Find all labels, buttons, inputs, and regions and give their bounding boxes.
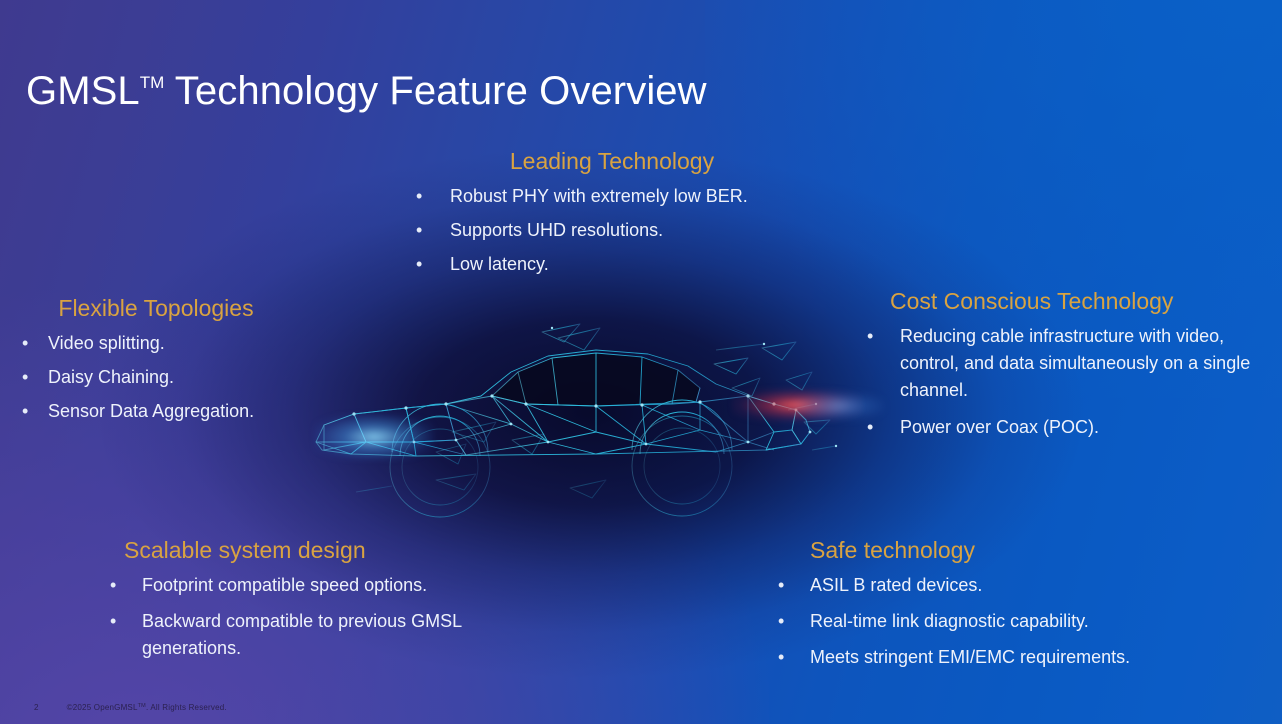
bullet-dot-icon: • xyxy=(778,572,784,599)
feature-bullet-list-safe-technology: •ASIL B rated devices. •Real-time link d… xyxy=(770,572,1210,671)
bullet-text: Power over Coax (POC). xyxy=(900,414,1274,441)
feature-heading-safe-technology: Safe technology xyxy=(770,537,1210,564)
feature-bullet-list-leading-technology: •Robust PHY with extremely low BER. •Sup… xyxy=(402,183,822,278)
list-item: •Video splitting. xyxy=(10,330,340,357)
copyright-notice: ©2025 OpenGMSLTM. All Rights Reserved. xyxy=(67,703,227,712)
list-item: •Low latency. xyxy=(402,251,822,278)
wireframe-car-illustration xyxy=(296,292,866,532)
title-remainder: Technology Feature Overview xyxy=(164,69,706,113)
trademark-symbol: TM xyxy=(140,73,165,92)
list-item: •Robust PHY with extremely low BER. xyxy=(402,183,822,210)
list-item: •Sensor Data Aggregation. xyxy=(10,398,340,425)
bullet-text: Low latency. xyxy=(450,251,822,278)
feature-block-leading-technology: Leading Technology •Robust PHY with extr… xyxy=(402,148,822,285)
copyright-text: ©2025 OpenGMSL xyxy=(67,703,138,712)
feature-heading-leading-technology: Leading Technology xyxy=(402,148,822,175)
feature-heading-flexible-topologies: Flexible Topologies xyxy=(10,295,340,322)
copyright-suffix: . All Rights Reserved. xyxy=(146,703,227,712)
list-item: •Meets stringent EMI/EMC requirements. xyxy=(770,644,1210,671)
bullet-text: Daisy Chaining. xyxy=(48,364,340,391)
bullet-text: Sensor Data Aggregation. xyxy=(48,398,340,425)
feature-block-scalable-system-design: Scalable system design •Footprint compat… xyxy=(110,537,530,671)
bullet-text: Robust PHY with extremely low BER. xyxy=(450,183,822,210)
list-item: •Reducing cable infrastructure with vide… xyxy=(862,323,1274,404)
bullet-dot-icon: • xyxy=(416,183,422,210)
feature-heading-scalable-system-design: Scalable system design xyxy=(110,537,530,564)
feature-block-cost-conscious-technology: Cost Conscious Technology •Reducing cabl… xyxy=(862,288,1274,451)
list-item: •Daisy Chaining. xyxy=(10,364,340,391)
bullet-text: Backward compatible to previous GMSL gen… xyxy=(142,608,530,662)
bullet-dot-icon: • xyxy=(110,572,116,599)
bullet-text: Reducing cable infrastructure with video… xyxy=(900,323,1274,404)
bullet-dot-icon: • xyxy=(778,608,784,635)
list-item: •Supports UHD resolutions. xyxy=(402,217,822,244)
list-item: •ASIL B rated devices. xyxy=(770,572,1210,599)
slide-title: GMSLTM Technology Feature Overview xyxy=(26,69,707,114)
bullet-dot-icon: • xyxy=(416,251,422,278)
title-brand: GMSL xyxy=(26,69,140,113)
list-item: •Backward compatible to previous GMSL ge… xyxy=(110,608,530,662)
bullet-text: Meets stringent EMI/EMC requirements. xyxy=(810,644,1210,671)
list-item: •Footprint compatible speed options. xyxy=(110,572,530,599)
bullet-dot-icon: • xyxy=(110,608,116,635)
bullet-text: ASIL B rated devices. xyxy=(810,572,1210,599)
bullet-text: Footprint compatible speed options. xyxy=(142,572,530,599)
bullet-text: Supports UHD resolutions. xyxy=(450,217,822,244)
list-item: •Power over Coax (POC). xyxy=(862,414,1274,441)
bullet-dot-icon: • xyxy=(22,364,28,391)
bullet-text: Video splitting. xyxy=(48,330,340,357)
bullet-dot-icon: • xyxy=(867,414,873,441)
feature-heading-cost-conscious-technology: Cost Conscious Technology xyxy=(862,288,1274,315)
list-item: •Real-time link diagnostic capability. xyxy=(770,608,1210,635)
slide-footer: 2 ©2025 OpenGMSLTM. All Rights Reserved. xyxy=(34,703,227,712)
feature-block-safe-technology: Safe technology •ASIL B rated devices. •… xyxy=(770,537,1210,680)
slide-canvas: GMSLTM Technology Feature Overview xyxy=(0,0,1282,724)
bullet-dot-icon: • xyxy=(416,217,422,244)
car-wireframe-svg xyxy=(296,292,866,532)
bullet-dot-icon: • xyxy=(22,330,28,357)
feature-block-flexible-topologies: Flexible Topologies •Video splitting. •D… xyxy=(10,295,340,432)
page-number: 2 xyxy=(34,703,39,712)
bullet-dot-icon: • xyxy=(22,398,28,425)
footer-trademark-symbol: TM xyxy=(138,703,146,709)
feature-bullet-list-flexible-topologies: •Video splitting. •Daisy Chaining. •Sens… xyxy=(10,330,340,425)
bullet-dot-icon: • xyxy=(867,323,873,350)
bullet-text: Real-time link diagnostic capability. xyxy=(810,608,1210,635)
taillight-glow xyxy=(732,388,862,422)
bullet-dot-icon: • xyxy=(778,644,784,671)
feature-bullet-list-cost-conscious-technology: •Reducing cable infrastructure with vide… xyxy=(862,323,1274,441)
feature-bullet-list-scalable-system-design: •Footprint compatible speed options. •Ba… xyxy=(110,572,530,662)
